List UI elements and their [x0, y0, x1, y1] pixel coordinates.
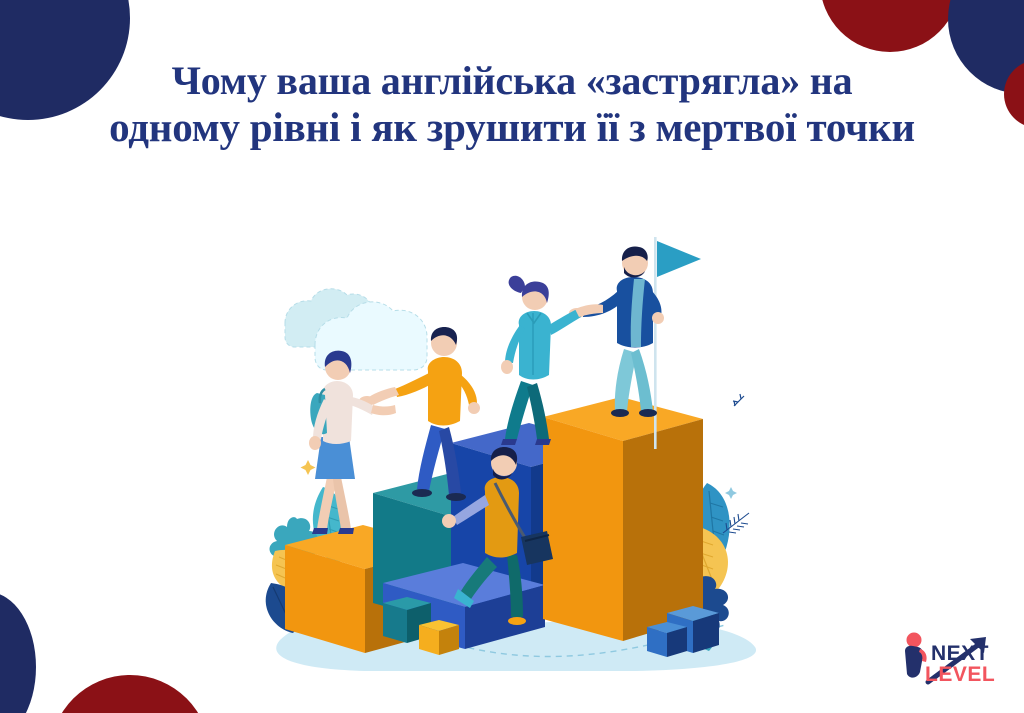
shoe-right — [535, 439, 551, 445]
growth-illustration — [255, 225, 785, 675]
bottom-left-navy-circle — [0, 592, 36, 713]
page-title-line-1: Чому ваша англійська «застрягла» на — [0, 58, 1024, 104]
hand-down — [309, 436, 321, 450]
top-right-red-circle — [820, 0, 960, 52]
bar-4-orange-tallest — [543, 397, 703, 641]
cube-yellow — [419, 620, 459, 655]
twig-right-icon — [733, 394, 744, 406]
shoe-right — [446, 493, 466, 501]
reaching-arm — [371, 405, 396, 415]
logo-person-head-icon — [907, 633, 922, 648]
hand-down — [501, 360, 513, 374]
shoe-front — [508, 617, 526, 625]
shoe-right — [639, 409, 657, 417]
bottom-left-red-circle — [50, 675, 210, 713]
shoe-right — [338, 528, 354, 534]
hand-forward — [442, 514, 456, 528]
shoe-left — [412, 489, 432, 497]
shoe-left — [501, 439, 517, 445]
cube-blue-b — [647, 622, 687, 657]
flag-banner — [657, 241, 701, 277]
logo-word-next: NEXT — [931, 642, 989, 665]
hand-on-pole — [652, 312, 664, 324]
ponytail — [509, 276, 525, 293]
character-man-with-flag — [569, 247, 664, 417]
page-title: Чому ваша англійська «застрягла» на одно… — [0, 58, 1024, 150]
hand-back — [468, 402, 480, 414]
flag-pole — [654, 237, 657, 449]
brand-logo-next-level[interactable]: NEXT LEVEL — [896, 628, 1012, 694]
sparkle-right-icon — [725, 487, 737, 499]
poster-canvas: Чому ваша англійська «застрягла» на одно… — [0, 0, 1024, 713]
shoe-left — [611, 409, 629, 417]
logo-word-level: LEVEL — [925, 663, 995, 686]
sparkle-left-icon — [301, 460, 316, 475]
shoe-left — [312, 528, 328, 534]
page-title-line-2: одному рівні і як зрушити її з мертвої т… — [0, 104, 1024, 151]
